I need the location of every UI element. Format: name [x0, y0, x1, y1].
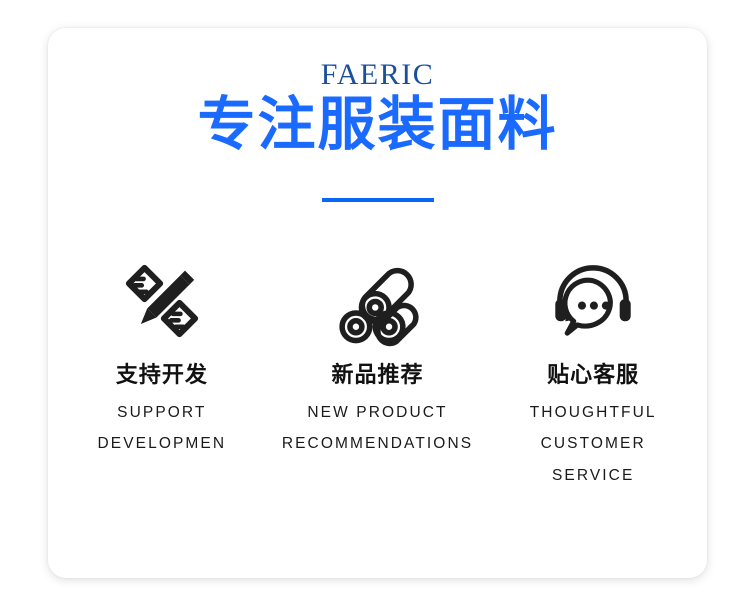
- divider-line: [322, 198, 434, 202]
- feature-subtitle: SUPPORT DEVELOPMEN: [54, 397, 270, 461]
- feature-item-customer-service: 贴心客服 THOUGHTFUL CUSTOMER SERVICE: [485, 246, 701, 492]
- feature-subtitle-line: SERVICE: [485, 460, 701, 492]
- feature-subtitle-line: RECOMMENDATIONS: [270, 428, 486, 460]
- feature-title: 支持开发: [54, 362, 270, 390]
- feature-item-support-development: 支持开发 SUPPORT DEVELOPMEN: [54, 246, 270, 460]
- headset-chat-icon: [485, 246, 701, 356]
- feature-subtitle-line: NEW PRODUCT: [270, 397, 486, 429]
- feature-title: 贴心客服: [485, 362, 701, 390]
- promo-banner: FAERIC 专注服装面料: [0, 0, 750, 615]
- title-divider: [48, 191, 707, 209]
- feature-item-new-product: 新品推荐 NEW PRODUCT RECOMMENDATIONS: [270, 246, 486, 460]
- pencil-ruler-icon: [54, 246, 270, 356]
- promo-card: FAERIC 专注服装面料: [48, 28, 707, 578]
- fabric-rolls-icon: [270, 246, 486, 356]
- feature-list: 支持开发 SUPPORT DEVELOPMEN: [48, 246, 707, 492]
- feature-subtitle-line: THOUGHTFUL: [485, 397, 701, 429]
- page-title: 专注服装面料: [48, 90, 707, 158]
- feature-subtitle: THOUGHTFUL CUSTOMER SERVICE: [485, 397, 701, 492]
- feature-subtitle-line: SUPPORT: [54, 397, 270, 429]
- brand-name: FAERIC: [48, 60, 707, 90]
- feature-subtitle-line: DEVELOPMEN: [54, 428, 270, 460]
- feature-subtitle: NEW PRODUCT RECOMMENDATIONS: [270, 397, 486, 461]
- feature-subtitle-line: CUSTOMER: [485, 428, 701, 460]
- feature-title: 新品推荐: [270, 362, 486, 390]
